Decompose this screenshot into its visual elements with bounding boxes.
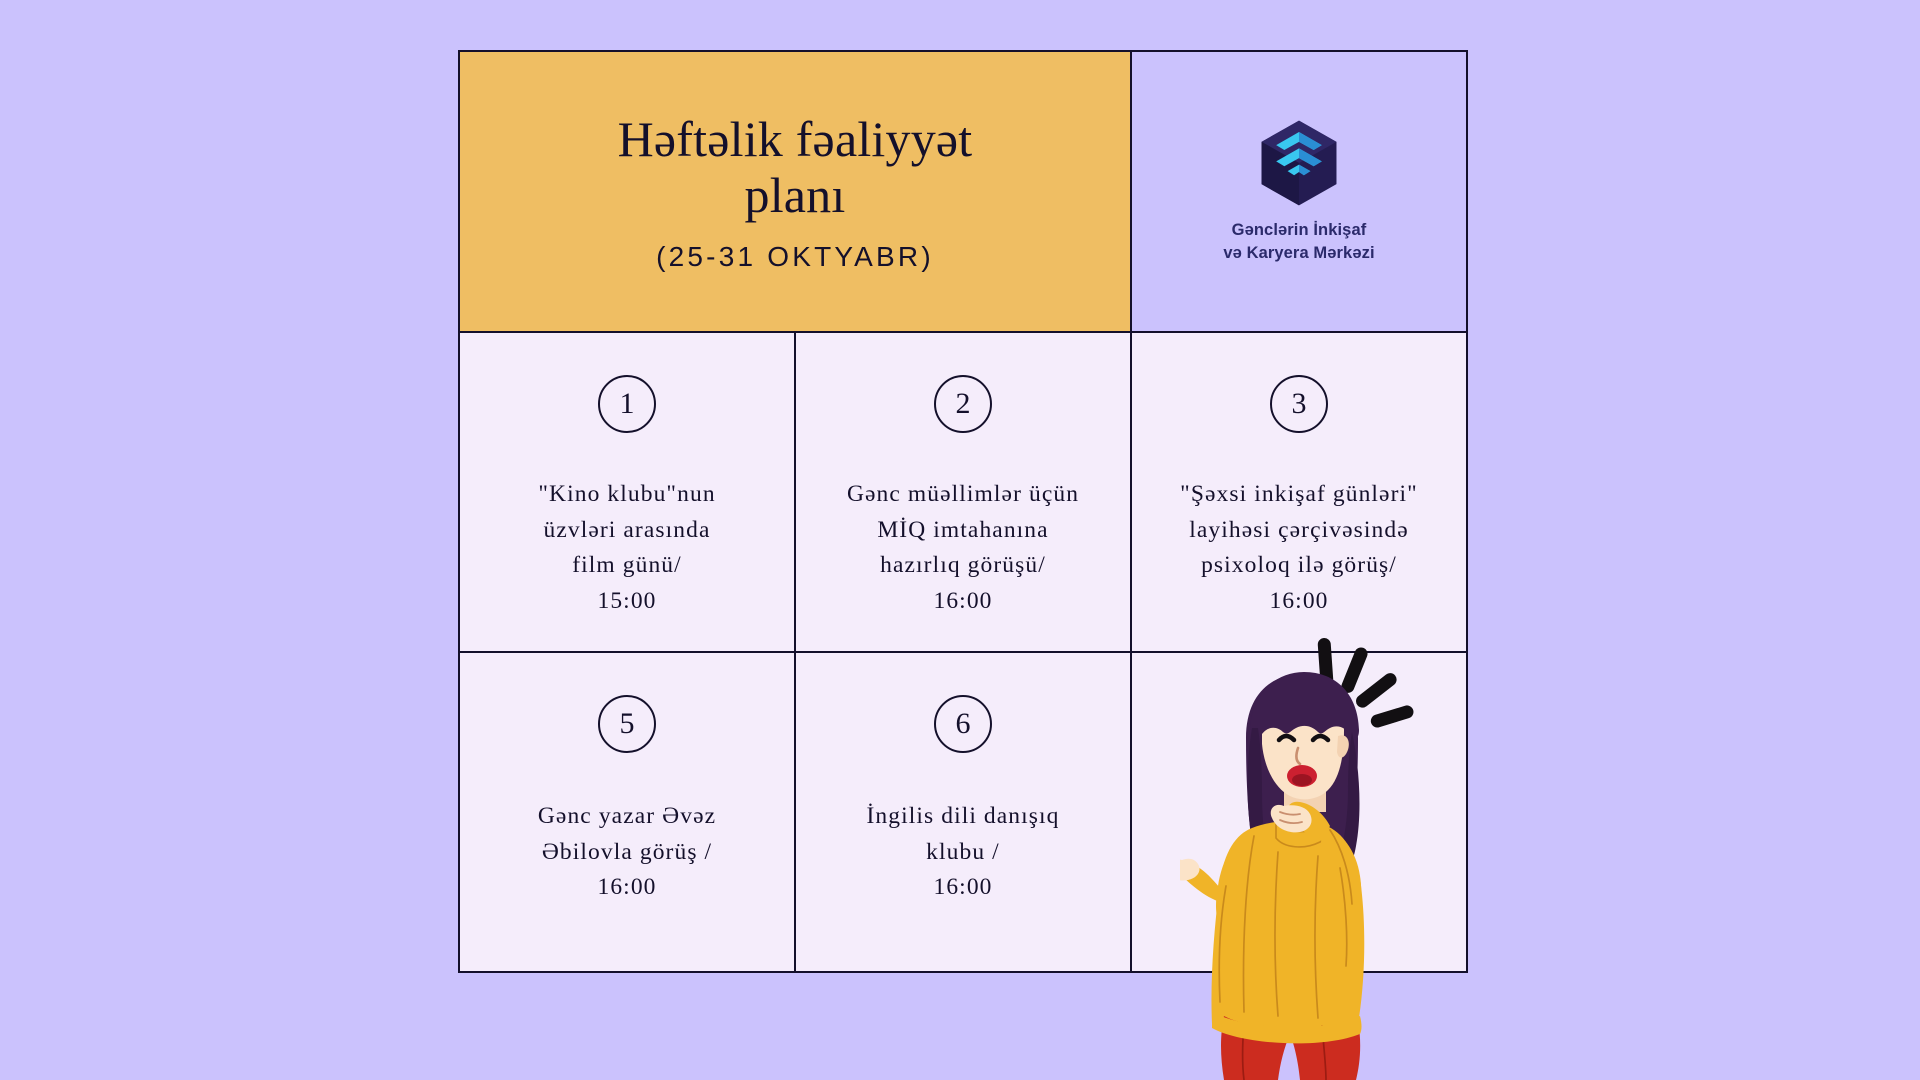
event-cell-1[interactable]: 1 "Kino klubu"nun üzvləri arasında film …: [458, 331, 796, 653]
event-description: Gənc müəllimlər üçün MİQ imtahanına hazı…: [835, 477, 1091, 620]
illustration-cell: [1130, 651, 1468, 973]
event-number-badge: 1: [598, 375, 656, 433]
hexagon-cube-chevron-logo-icon: [1258, 119, 1340, 207]
logo-cell: Gənclərin İnkişafvə Karyera Mərkəzi: [1130, 50, 1468, 333]
logo-text-line-2: və Karyera Mərkəzi: [1223, 244, 1374, 262]
event-cell-6[interactable]: 6 İngilis dili danışıq klubu / 16:00: [794, 651, 1132, 973]
weekly-plan-table: Həftəlik fəaliyyətplanı (25-31 OKTYABR): [459, 51, 1467, 972]
event-number-badge: 2: [934, 375, 992, 433]
event-description: "Kino klubu"nun üzvləri arasında film gü…: [526, 477, 727, 620]
event-number-badge: 6: [934, 695, 992, 753]
event-number-badge: 5: [598, 695, 656, 753]
pants-folds: [1243, 1024, 1327, 1080]
event-description: "Şəxsi inkişaf günləri" layihəsi çərçivə…: [1168, 477, 1430, 620]
event-cell-2[interactable]: 2 Gənc müəllimlər üçün MİQ imtahanına ha…: [794, 331, 1132, 653]
event-description: İngilis dili danışıq klubu / 16:00: [854, 799, 1071, 906]
title-cell: Həftəlik fəaliyyətplanı (25-31 OKTYABR): [458, 50, 1132, 333]
title-line-1: Həftəlik fəaliyyət: [618, 111, 973, 167]
event-description: Gənc yazar Əvəz Əbilovla görüş / 16:00: [526, 799, 728, 906]
event-number-badge: 3: [1270, 375, 1328, 433]
event-cell-5[interactable]: 5 Gənc yazar Əvəz Əbilovla görüş / 16:00: [458, 651, 796, 973]
pants: [1221, 1016, 1360, 1080]
logo-text-line-1: Gənclərin İnkişaf: [1232, 221, 1367, 239]
organization-name: Gənclərin İnkişafvə Karyera Mərkəzi: [1223, 219, 1374, 264]
event-cell-3[interactable]: 3 "Şəxsi inkişaf günləri" layihəsi çərçi…: [1130, 331, 1468, 653]
title-line-2: planı: [745, 167, 846, 223]
date-range-subtitle: (25-31 OKTYABR): [656, 241, 934, 273]
organization-logo: Gənclərin İnkişafvə Karyera Mərkəzi: [1223, 119, 1374, 264]
weekly-plan-poster: Həftəlik fəaliyyətplanı (25-31 OKTYABR): [0, 0, 1920, 1080]
page-title: Həftəlik fəaliyyətplanı: [618, 111, 973, 223]
sweater-hem: [1212, 1012, 1362, 1043]
